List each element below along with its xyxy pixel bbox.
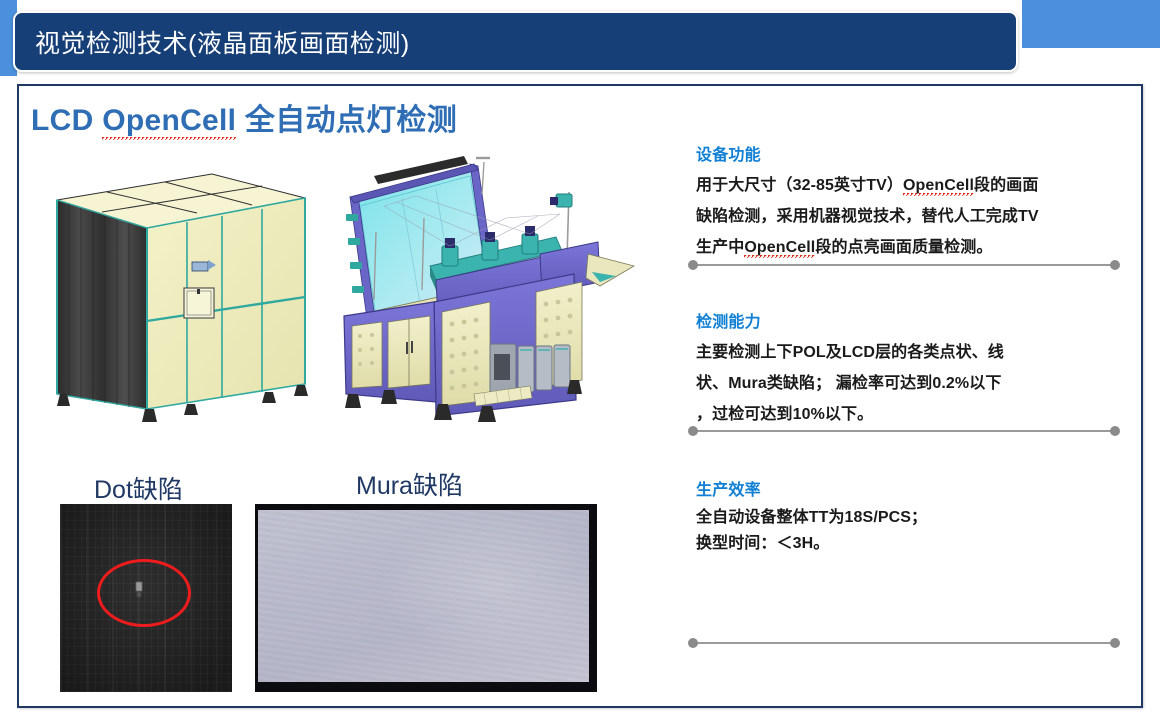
divider-dot-left bbox=[688, 638, 698, 648]
page-title: LCD OpenCell 全自动点灯检测 bbox=[31, 95, 457, 139]
section-divider bbox=[684, 260, 1124, 270]
divider-dot-left bbox=[688, 260, 698, 270]
header-accent-strip-right bbox=[1022, 0, 1160, 48]
slide-root: 视觉检测技术(液晶面板画面检测) LCD OpenCell 全自动点灯检测 bbox=[0, 0, 1160, 720]
section-heading: 设备功能 bbox=[696, 141, 1124, 165]
divider-line bbox=[692, 264, 1116, 266]
mura-defect-caption: Mura缺陷 bbox=[356, 466, 463, 502]
dot-defect-caption: Dot缺陷 bbox=[94, 470, 183, 506]
section-body: 全自动设备整体TT为18S/PCS； 换型时间：＜3H。 bbox=[696, 505, 1124, 557]
mura-banding-texture bbox=[258, 510, 589, 682]
figures-area bbox=[39, 146, 649, 496]
section-body: 主要检测上下POL及LCD层的各类点状、线 状、Mura类缺陷； 漏检率可达到0… bbox=[696, 337, 1124, 430]
machine-enclosure-illustration bbox=[47, 156, 312, 431]
mura-defect-photo bbox=[255, 504, 597, 692]
section-divider bbox=[684, 638, 1124, 648]
body-line: 换型时间：＜3H。 bbox=[696, 531, 1124, 557]
defect-marker-ellipse-icon bbox=[97, 559, 191, 627]
body-line: 缺陷检测，采用机器视觉技术，替代人工完成TV bbox=[696, 201, 1124, 232]
section-divider bbox=[684, 426, 1124, 436]
page-title-suffix: 全自动点灯检测 bbox=[236, 104, 457, 137]
section-body: 用于大尺寸（32-85英寸TV）OpenCell段的画面 缺陷检测，采用机器视觉… bbox=[696, 170, 1124, 263]
dot-defect-photo bbox=[60, 504, 232, 692]
spellchecked-term: OpenCell bbox=[744, 239, 815, 258]
spellchecked-term: OpenCell bbox=[903, 177, 974, 196]
content-frame: LCD OpenCell 全自动点灯检测 bbox=[17, 84, 1143, 708]
header-title: 视觉检测技术(液晶面板画面检测) bbox=[35, 24, 410, 60]
section-inspection-capability: 检测能力 主要检测上下POL及LCD层的各类点状、线 状、Mura类缺陷； 漏检… bbox=[684, 308, 1124, 430]
section-production-efficiency: 生产效率 全自动设备整体TT为18S/PCS； 换型时间：＜3H。 bbox=[684, 476, 1124, 557]
divider-dot-right bbox=[1110, 260, 1120, 270]
machine-inspection-illustration bbox=[324, 154, 644, 429]
section-heading: 生产效率 bbox=[696, 476, 1124, 500]
header-bar: 视觉检测技术(液晶面板画面检测) bbox=[13, 11, 1018, 72]
divider-line bbox=[692, 430, 1116, 432]
divider-dot-right bbox=[1110, 426, 1120, 436]
body-line: 全自动设备整体TT为18S/PCS； bbox=[696, 505, 1124, 531]
page-title-prefix: LCD bbox=[31, 104, 102, 137]
body-line: 用于大尺寸（32-85英寸TV）OpenCell段的画面 bbox=[696, 170, 1124, 201]
body-line: 状、Mura类缺陷； 漏检率可达到0.2%以下 bbox=[696, 368, 1124, 399]
section-heading: 检测能力 bbox=[696, 308, 1124, 332]
divider-dot-left bbox=[688, 426, 698, 436]
divider-line bbox=[692, 642, 1116, 644]
info-column: 设备功能 用于大尺寸（32-85英寸TV）OpenCell段的画面 缺陷检测，采… bbox=[684, 136, 1124, 696]
section-equipment-function: 设备功能 用于大尺寸（32-85英寸TV）OpenCell段的画面 缺陷检测，采… bbox=[684, 141, 1124, 263]
page-title-spellchecked-term: OpenCell bbox=[102, 104, 236, 140]
divider-dot-right bbox=[1110, 638, 1120, 648]
body-line: 主要检测上下POL及LCD层的各类点状、线 bbox=[696, 337, 1124, 368]
body-line: 生产中OpenCell段的点亮画面质量检测。 bbox=[696, 232, 1124, 263]
